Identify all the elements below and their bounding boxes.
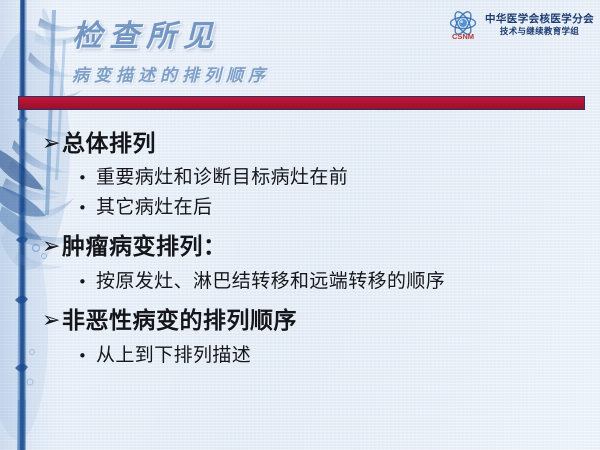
svg-text:CSNM: CSNM <box>452 32 474 41</box>
bullet-level1-label: 非恶性病变的排列顺序 <box>62 305 297 338</box>
group-spacer <box>0 296 600 305</box>
page-title: 检查所见 <box>72 20 270 53</box>
bullet-level1: ➢ 肿瘤病变排列： <box>0 231 600 264</box>
bullet-level2: • 按原发灶、淋巴结转移和远端转移的顺序 <box>0 267 600 296</box>
dot-bullet-icon: • <box>78 349 96 364</box>
bullet-group: ➢ 总体排列 • 重要病灶和诊断目标病灶在前 • 其它病灶在后 <box>0 128 600 221</box>
group-spacer <box>0 222 600 231</box>
page-subtitle: 病变描述的排列顺序 <box>72 61 270 86</box>
dot-bullet-icon: • <box>78 201 96 216</box>
society-logo: CSNM 中华医学会核医学分会 技术与继续教育学组 <box>446 8 594 42</box>
logo-society-name: 中华医学会核医学分会 <box>485 13 594 26</box>
arrow-bullet-icon: ➢ <box>42 310 62 332</box>
bullet-level1: ➢ 非恶性病变的排列顺序 <box>0 305 600 338</box>
dot-bullet-icon: • <box>78 275 96 290</box>
bullet-group: ➢ 非恶性病变的排列顺序 • 从上到下排列描述 <box>0 305 600 369</box>
csnm-atom-logo-icon: CSNM <box>446 8 480 42</box>
arrow-bullet-icon: ➢ <box>42 236 62 258</box>
bullet-level2-label: 从上到下排列描述 <box>96 341 251 370</box>
bullet-level2: • 重要病灶和诊断目标病灶在前 <box>0 163 600 192</box>
bullet-level1-label: 肿瘤病变排列： <box>62 231 227 264</box>
title-block: 检查所见 病变描述的排列顺序 <box>72 20 270 86</box>
dot-bullet-icon: • <box>78 171 96 186</box>
slide-header: 检查所见 病变描述的排列顺序 CSNM 中华医学会核医学分会 技术与继续教育学组 <box>0 0 600 100</box>
bullet-level1: ➢ 总体排列 <box>0 128 600 161</box>
presentation-slide: 检查所见 病变描述的排列顺序 CSNM 中华医学会核医学分会 技术与继续教育学组 <box>0 0 600 450</box>
bullet-level2-label: 重要病灶和诊断目标病灶在前 <box>96 163 348 192</box>
bullet-level2-label: 按原发灶、淋巴结转移和远端转移的顺序 <box>96 267 445 296</box>
bullet-level2: • 其它病灶在后 <box>0 193 600 222</box>
bullet-group: ➢ 肿瘤病变排列： • 按原发灶、淋巴结转移和远端转移的顺序 <box>0 231 600 295</box>
bullet-level2-label: 其它病灶在后 <box>96 193 212 222</box>
title-divider-bar <box>18 96 585 110</box>
slide-body: ➢ 总体排列 • 重要病灶和诊断目标病灶在前 • 其它病灶在后 ➢ 肿瘤病变排列… <box>0 128 600 370</box>
logo-text-block: 中华医学会核医学分会 技术与继续教育学组 <box>485 13 594 37</box>
bullet-level2: • 从上到下排列描述 <box>0 341 600 370</box>
logo-committee-name: 技术与继续教育学组 <box>500 26 579 37</box>
arrow-bullet-icon: ➢ <box>42 133 62 155</box>
bullet-level1-label: 总体排列 <box>62 128 156 161</box>
